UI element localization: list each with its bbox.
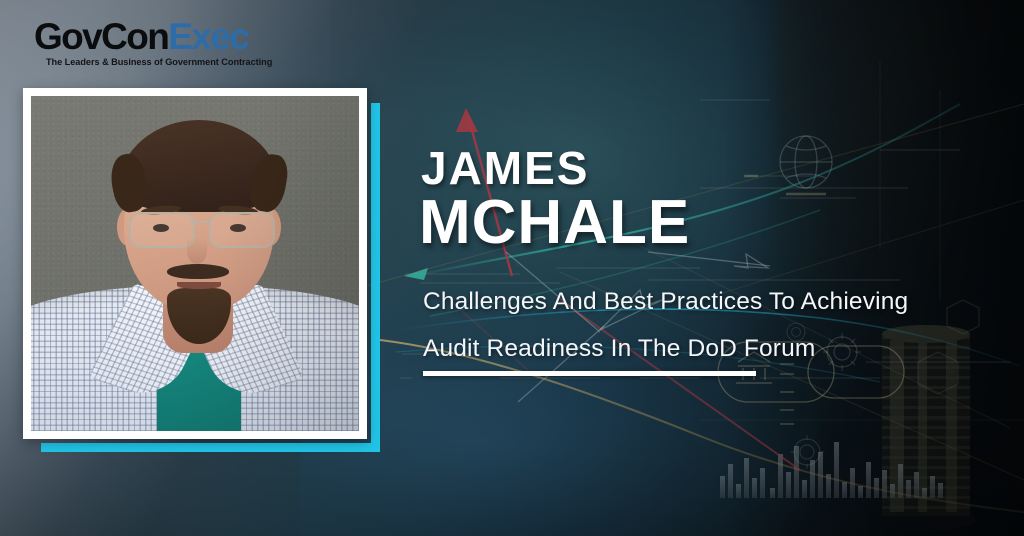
hud-accent-marks (744, 176, 826, 194)
session-title-line-1: Challenges And Best Practices To Achievi… (423, 287, 908, 317)
govconexec-logo[interactable]: GovConExec The Leaders & Business of Gov… (34, 18, 264, 67)
logo-text-govcon: GovCon (34, 16, 168, 57)
hexagon-outline (918, 300, 979, 394)
logo-wordmark: GovConExec (34, 18, 264, 56)
logo-tagline: The Leaders & Business of Government Con… (46, 57, 264, 67)
speaker-first-name: JAMES (421, 145, 589, 191)
speaker-photo-frame (23, 88, 367, 439)
speaker-last-name: MCHALE (419, 192, 690, 254)
gold-diagonal (700, 200, 1024, 300)
gear-icon (790, 435, 824, 469)
session-title-line-2: Audit Readiness In The DoD Forum (423, 334, 815, 364)
gold-curve (380, 340, 1024, 512)
promo-graphic: GovConExec The Leaders & Business of Gov… (0, 0, 1024, 536)
logo-text-exec: Exec (168, 16, 248, 57)
speaker-photo (31, 96, 359, 431)
photo-shading (31, 96, 359, 431)
title-underline-rule (423, 371, 756, 376)
